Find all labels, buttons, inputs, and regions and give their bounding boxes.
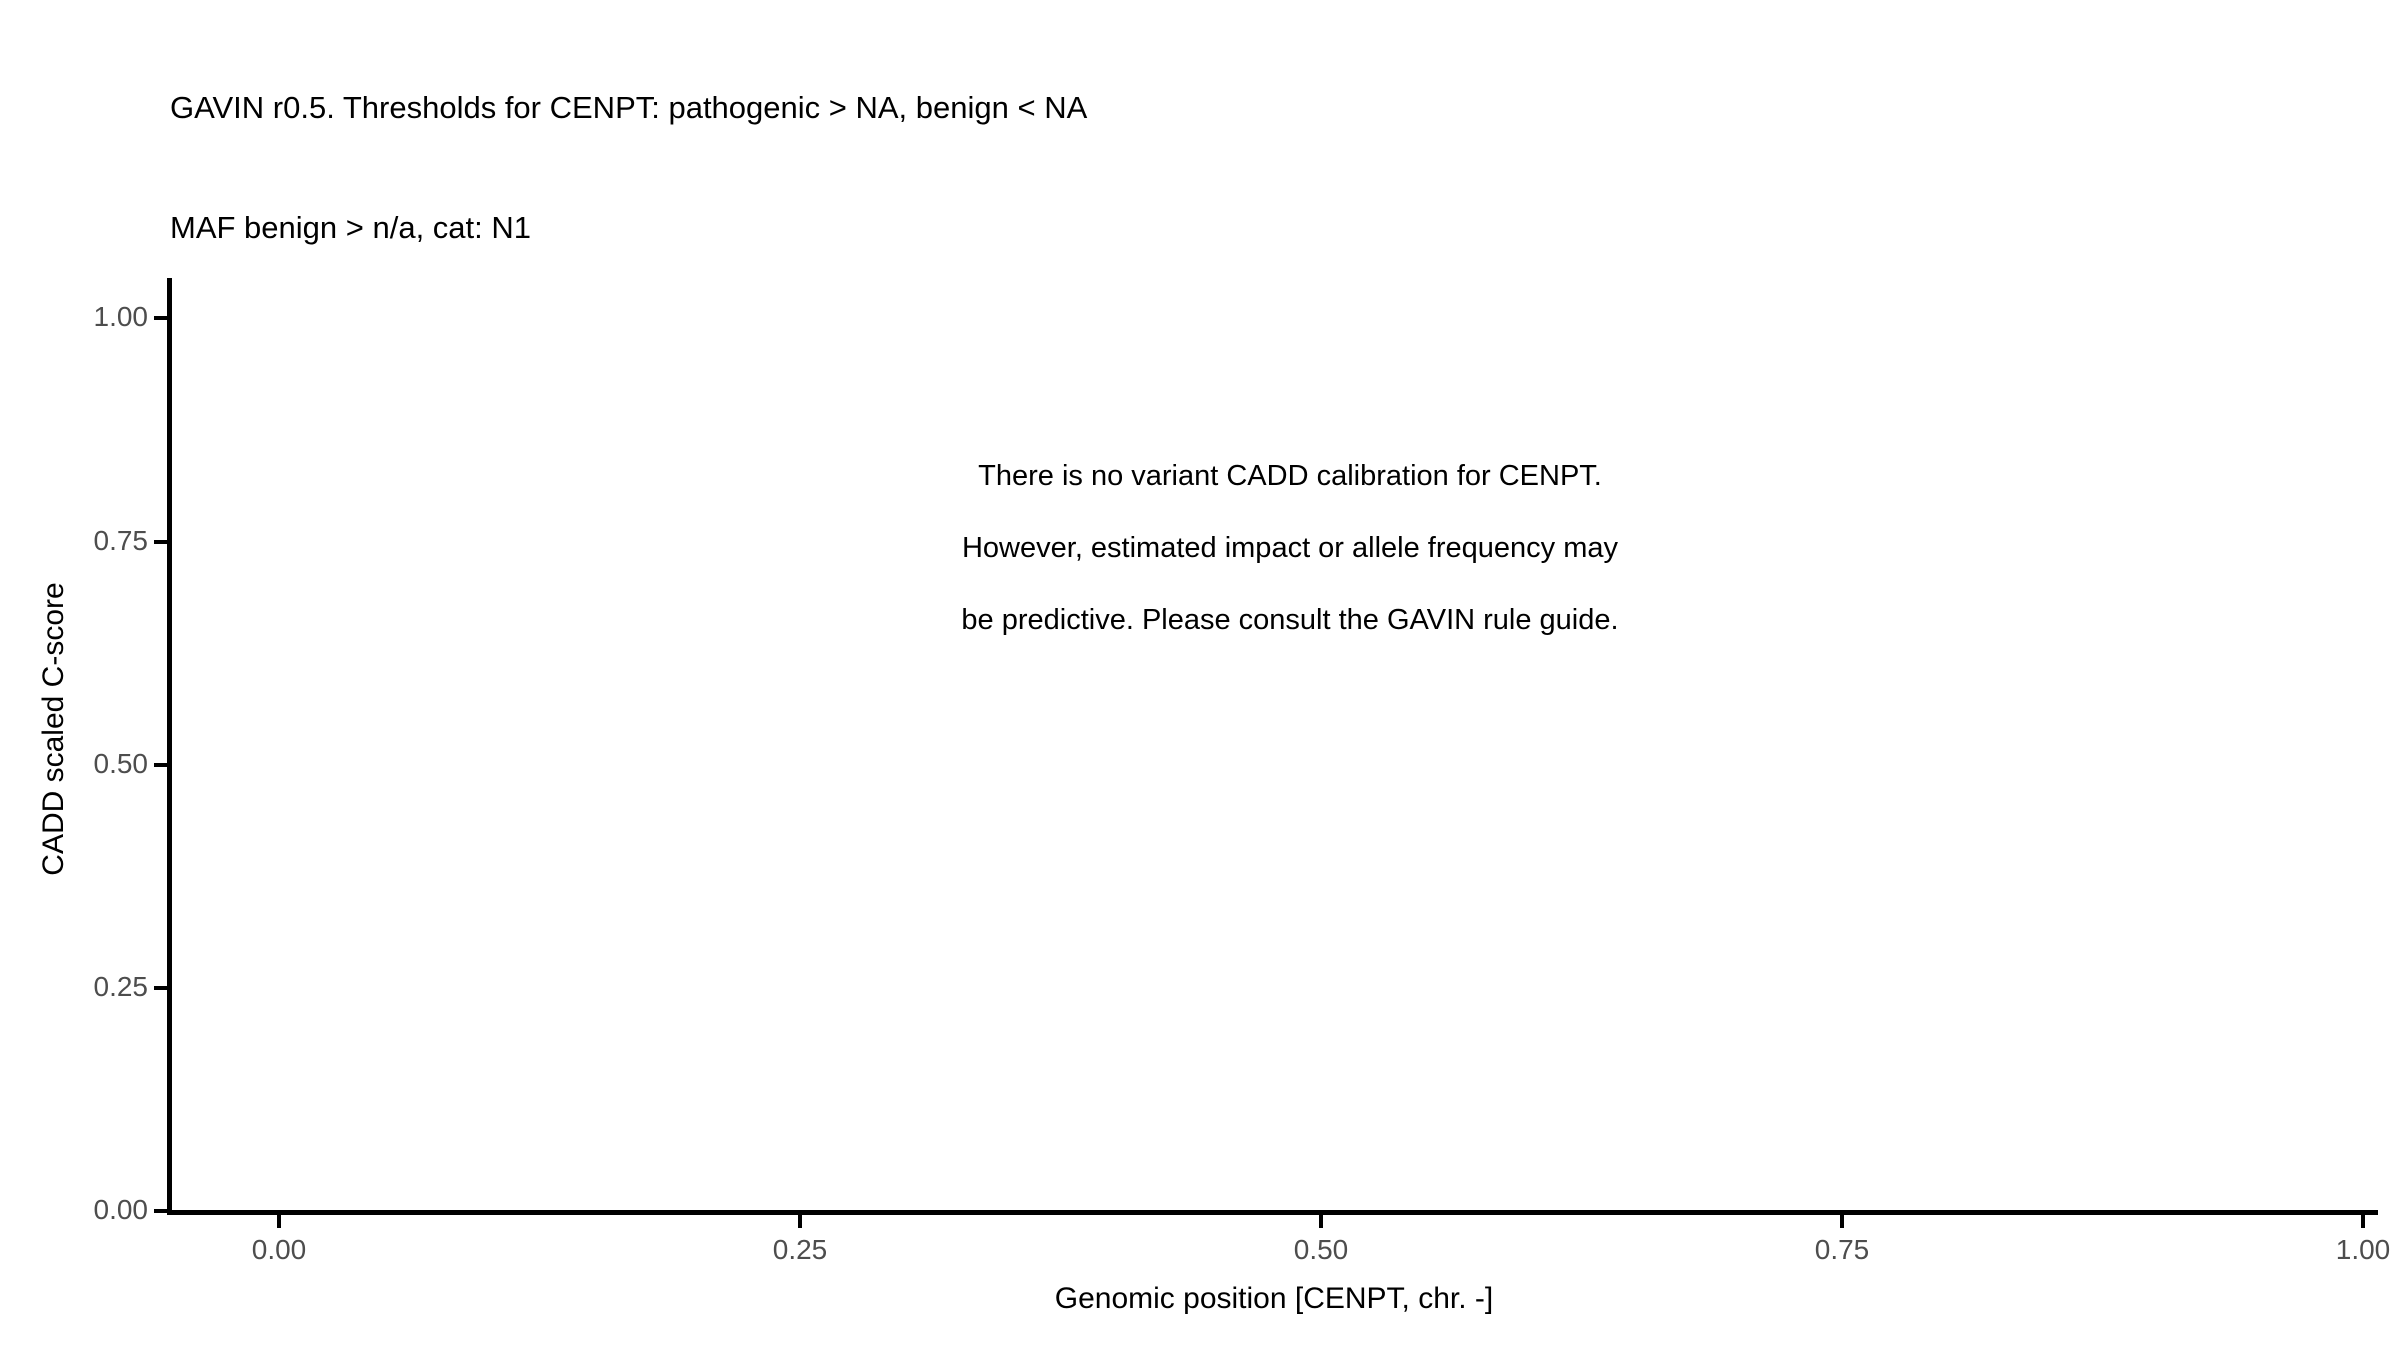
x-tick-mark-1.00	[2361, 1215, 2365, 1228]
x-axis-line	[167, 1210, 2378, 1215]
x-tick-mark-0.00	[277, 1215, 281, 1228]
x-tick-label-0.50: 0.50	[1221, 1234, 1421, 1266]
plot-panel	[170, 278, 2378, 1212]
panel-background	[170, 278, 2378, 1212]
y-tick-mark-0.50	[154, 763, 167, 767]
x-tick-label-0.25: 0.25	[700, 1234, 900, 1266]
title-line-1: GAVIN r0.5. Thresholds for CENPT: pathog…	[170, 88, 2350, 128]
y-tick-mark-0.25	[154, 986, 167, 990]
annotation-line-2: However, estimated impact or allele freq…	[490, 512, 2090, 584]
x-tick-mark-0.50	[1319, 1215, 1323, 1228]
x-axis-title: Genomic position [CENPT, chr. -]	[170, 1282, 2378, 1316]
plot-annotation: There is no variant CADD calibration for…	[490, 440, 2090, 656]
y-tick-label-0.75: 0.75	[0, 525, 148, 557]
x-tick-mark-0.75	[1840, 1215, 1844, 1228]
y-tick-label-0.50: 0.50	[0, 748, 148, 780]
y-tick-label-1.00: 1.00	[0, 301, 148, 333]
x-tick-label-0.75: 0.75	[1742, 1234, 1942, 1266]
x-tick-mark-0.25	[798, 1215, 802, 1228]
annotation-line-1: There is no variant CADD calibration for…	[490, 440, 2090, 512]
y-tick-label-0.25: 0.25	[0, 971, 148, 1003]
y-tick-mark-0.00	[154, 1209, 167, 1213]
y-tick-mark-1.00	[154, 316, 167, 320]
y-axis-line	[167, 278, 172, 1212]
y-tick-mark-0.75	[154, 540, 167, 544]
x-tick-label-1.00: 1.00	[2263, 1234, 2400, 1266]
y-axis-title: CADD scaled C-score	[37, 262, 71, 1196]
x-tick-label-0.00: 0.00	[179, 1234, 379, 1266]
annotation-line-3: be predictive. Please consult the GAVIN …	[490, 584, 2090, 656]
y-tick-label-0.00: 0.00	[0, 1194, 148, 1226]
title-line-2: MAF benign > n/a, cat: N1	[170, 208, 2350, 248]
plot-figure: GAVIN r0.5. Thresholds for CENPT: pathog…	[0, 0, 2400, 1350]
